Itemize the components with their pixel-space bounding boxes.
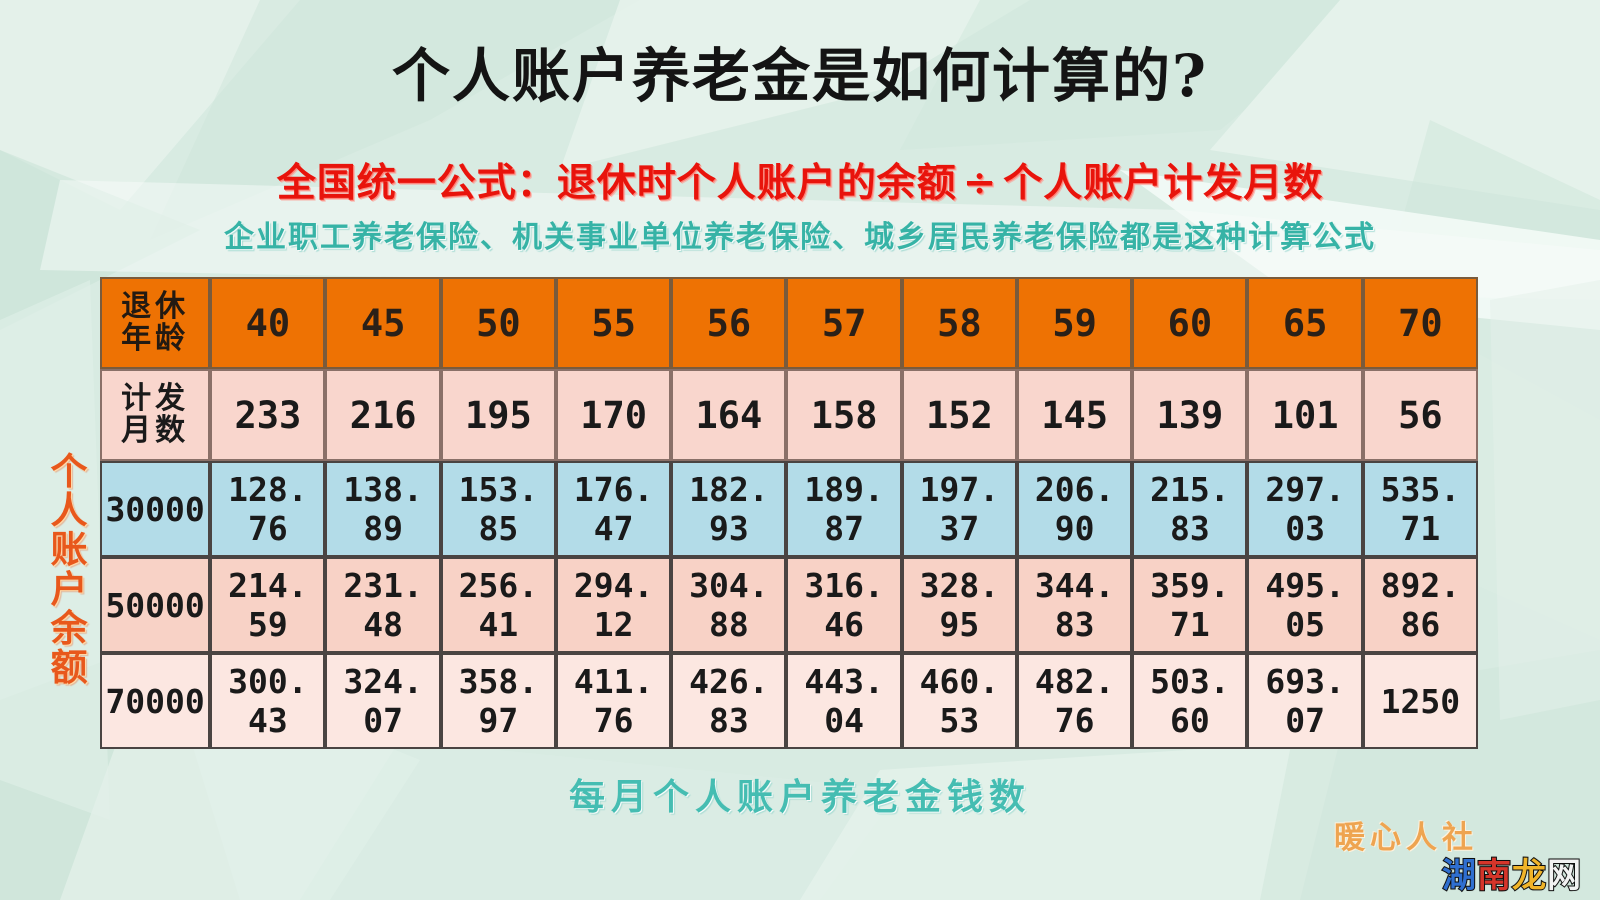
table-cell: 892. 86 [1363, 557, 1478, 653]
table-cell: 1250 [1363, 653, 1478, 749]
formula-tail: 个人账户计发月数 [1003, 160, 1323, 206]
table-cell: 359. 71 [1132, 557, 1247, 653]
table-cell: 58 [902, 277, 1017, 369]
vertical-label-char: 个 [44, 452, 94, 491]
table-cell: 197. 37 [902, 461, 1017, 557]
site-watermark: 湖南龙网 [1442, 848, 1582, 897]
table-cell: 182. 93 [671, 461, 786, 557]
divide-icon: ÷ [957, 159, 1004, 206]
table-cell: 693. 07 [1247, 653, 1362, 749]
table-cell: 256. 41 [441, 557, 556, 653]
table-cell: 164 [671, 369, 786, 461]
page-title: 个人账户养老金是如何计算的? [0, 46, 1600, 107]
table-row: 30000128. 76138. 89153. 85176. 47182. 93… [100, 461, 1478, 557]
vertical-label-char: 余 [44, 609, 94, 648]
table-cell: 56 [1363, 369, 1478, 461]
formula-lead: 全国统一公式：退休时个人账户的余额 [277, 160, 957, 206]
site-watermark-char: 网 [1547, 856, 1582, 896]
table-cell: 324. 07 [325, 653, 440, 749]
vertical-label-char: 账 [44, 530, 94, 569]
table-cell: 460. 53 [902, 653, 1017, 749]
subtitle-line: 企业职工养老保险、机关事业单位养老保险、城乡居民养老保险都是这种计算公式 [0, 212, 1600, 256]
table-cell: 316. 46 [786, 557, 901, 653]
table-cell: 482. 76 [1017, 653, 1132, 749]
table-cell: 101 [1247, 369, 1362, 461]
table-cell: 231. 48 [325, 557, 440, 653]
table-cell: 411. 76 [556, 653, 671, 749]
pension-table-wrapper: 退休年龄4045505556575859606570计发月数2332161951… [100, 277, 1478, 749]
pension-table: 退休年龄4045505556575859606570计发月数2332161951… [100, 277, 1478, 749]
table-row-header: 计发月数 [100, 369, 210, 461]
table-cell: 153. 85 [441, 461, 556, 557]
row-header-line: 月数 [121, 413, 189, 448]
table-cell: 294. 12 [556, 557, 671, 653]
table-cell: 535. 71 [1363, 461, 1478, 557]
table-cell: 45 [325, 277, 440, 369]
table-cell: 50 [441, 277, 556, 369]
row-header-line: 70000 [105, 682, 204, 721]
row-header-line: 计发 [121, 381, 189, 416]
vertical-label-char: 额 [44, 648, 94, 687]
table-cell: 304. 88 [671, 557, 786, 653]
formula-line: 全国统一公式：退休时个人账户的余额÷个人账户计发月数 [0, 152, 1600, 208]
table-row-header: 70000 [100, 653, 210, 749]
table-cell: 139 [1132, 369, 1247, 461]
table-cell: 300. 43 [210, 653, 325, 749]
table-cell: 152 [902, 369, 1017, 461]
row-header-line: 50000 [105, 586, 204, 625]
table-cell: 495. 05 [1247, 557, 1362, 653]
table-cell: 56 [671, 277, 786, 369]
site-watermark-char: 龙 [1512, 856, 1547, 896]
site-watermark-char: 南 [1477, 856, 1512, 896]
table-row-header: 50000 [100, 557, 210, 653]
table-cell: 215. 83 [1132, 461, 1247, 557]
table-cell: 328. 95 [902, 557, 1017, 653]
table-cell: 233 [210, 369, 325, 461]
table-cell: 158 [786, 369, 901, 461]
table-cell: 297. 03 [1247, 461, 1362, 557]
table-row: 70000300. 43324. 07358. 97411. 76426. 83… [100, 653, 1478, 749]
vertical-axis-label: 个 人 账 户 余 额 [44, 452, 94, 687]
table-row: 退休年龄4045505556575859606570 [100, 277, 1478, 369]
table-cell: 138. 89 [325, 461, 440, 557]
table-cell: 344. 83 [1017, 557, 1132, 653]
table-cell: 426. 83 [671, 653, 786, 749]
row-header-line: 退休 [121, 289, 189, 324]
table-cell: 189. 87 [786, 461, 901, 557]
table-row-header: 退休年龄 [100, 277, 210, 369]
table-cell: 216 [325, 369, 440, 461]
table-cell: 57 [786, 277, 901, 369]
vertical-label-char: 人 [44, 491, 94, 530]
table-row: 计发月数23321619517016415815214513910156 [100, 369, 1478, 461]
table-row: 50000214. 59231. 48256. 41294. 12304. 88… [100, 557, 1478, 653]
table-cell: 358. 97 [441, 653, 556, 749]
row-header-line: 年龄 [121, 321, 189, 356]
table-cell: 40 [210, 277, 325, 369]
table-cell: 170 [556, 369, 671, 461]
row-header-line: 30000 [105, 490, 204, 529]
table-cell: 55 [556, 277, 671, 369]
table-cell: 443. 04 [786, 653, 901, 749]
table-cell: 195 [441, 369, 556, 461]
vertical-label-char: 户 [44, 570, 94, 609]
site-watermark-char: 湖 [1442, 856, 1477, 896]
table-cell: 128. 76 [210, 461, 325, 557]
table-cell: 59 [1017, 277, 1132, 369]
table-cell: 176. 47 [556, 461, 671, 557]
table-cell: 206. 90 [1017, 461, 1132, 557]
table-cell: 70 [1363, 277, 1478, 369]
table-cell: 503. 60 [1132, 653, 1247, 749]
table-cell: 214. 59 [210, 557, 325, 653]
pension-table-body: 退休年龄4045505556575859606570计发月数2332161951… [100, 277, 1478, 749]
table-cell: 65 [1247, 277, 1362, 369]
table-cell: 60 [1132, 277, 1247, 369]
table-row-header: 30000 [100, 461, 210, 557]
table-cell: 145 [1017, 369, 1132, 461]
